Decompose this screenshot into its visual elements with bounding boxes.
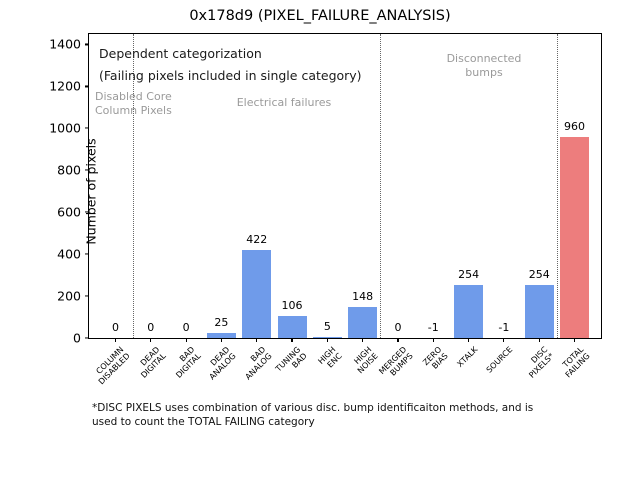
bar-value-label: 25 bbox=[214, 316, 228, 329]
bar-value-label: 148 bbox=[352, 290, 373, 303]
y-tick-label: 1200 bbox=[21, 79, 89, 94]
x-tick-mark bbox=[115, 338, 116, 342]
bar-value-label: 254 bbox=[458, 268, 479, 281]
annotation-electrical-failures: Electrical failures bbox=[209, 96, 359, 110]
bar-value-label: 422 bbox=[246, 233, 267, 246]
bar-value-label: 254 bbox=[529, 268, 550, 281]
y-tick-mark bbox=[85, 170, 89, 171]
bar bbox=[313, 337, 342, 338]
bar-value-label: 0 bbox=[183, 321, 190, 334]
y-tick-mark bbox=[85, 296, 89, 297]
y-tick-label: 800 bbox=[21, 163, 89, 178]
annotation-disconnected-bumps: Disconnected bumps bbox=[409, 52, 559, 79]
y-tick-label: 600 bbox=[21, 205, 89, 220]
y-tick-label: 1400 bbox=[21, 37, 89, 52]
y-tick-label: 200 bbox=[21, 289, 89, 304]
bar bbox=[242, 250, 271, 338]
y-axis-label: Number of pixels bbox=[84, 12, 99, 372]
bar-value-label: 0 bbox=[394, 321, 401, 334]
bar-value-label: 0 bbox=[147, 321, 154, 334]
bar bbox=[348, 307, 377, 338]
x-tick-mark bbox=[503, 338, 504, 342]
bar-value-label: 0 bbox=[112, 321, 119, 334]
y-tick-mark bbox=[85, 86, 89, 87]
x-tick-mark bbox=[327, 338, 328, 342]
y-tick-label: 0 bbox=[21, 331, 89, 346]
x-tick-mark bbox=[468, 338, 469, 342]
bar bbox=[454, 285, 483, 338]
y-tick-mark bbox=[85, 212, 89, 213]
y-tick-mark bbox=[85, 254, 89, 255]
bar bbox=[525, 285, 554, 338]
y-tick-label: 1000 bbox=[21, 121, 89, 136]
bar-value-label: -1 bbox=[498, 321, 509, 334]
bar-value-label: 960 bbox=[564, 120, 585, 133]
bar bbox=[207, 333, 236, 338]
x-tick-mark bbox=[186, 338, 187, 342]
bar-value-label: 5 bbox=[324, 320, 331, 333]
bar-value-label: 106 bbox=[282, 299, 303, 312]
footnote: *DISC PIXELS uses combination of various… bbox=[92, 401, 612, 429]
x-tick-mark bbox=[221, 338, 222, 342]
annotation-dependent-line1: Dependent categorization bbox=[99, 46, 262, 61]
chart-figure: 0x178d9 (PIXEL_FAILURE_ANALYSIS) Number … bbox=[0, 0, 640, 480]
x-tick-mark bbox=[256, 338, 257, 342]
category-divider bbox=[557, 34, 558, 338]
plot-area: Number of pixels 02004006008001000120014… bbox=[88, 33, 602, 339]
bar bbox=[278, 316, 307, 338]
x-tick-mark bbox=[574, 338, 575, 342]
y-tick-mark bbox=[85, 128, 89, 129]
x-tick-mark bbox=[362, 338, 363, 342]
x-tick-mark bbox=[150, 338, 151, 342]
annotation-disabled-core: Disabled Core Column Pixels bbox=[95, 90, 172, 117]
y-tick-label: 400 bbox=[21, 247, 89, 262]
x-tick-mark bbox=[397, 338, 398, 342]
x-tick-mark bbox=[539, 338, 540, 342]
x-tick-mark bbox=[433, 338, 434, 342]
x-tick-mark bbox=[291, 338, 292, 342]
category-divider bbox=[380, 34, 381, 338]
annotation-dependent-line2: (Failing pixels included in single categ… bbox=[99, 68, 362, 83]
y-tick-mark bbox=[85, 44, 89, 45]
y-tick-mark bbox=[85, 337, 89, 338]
bar-value-label: -1 bbox=[428, 321, 439, 334]
bar bbox=[560, 137, 589, 338]
